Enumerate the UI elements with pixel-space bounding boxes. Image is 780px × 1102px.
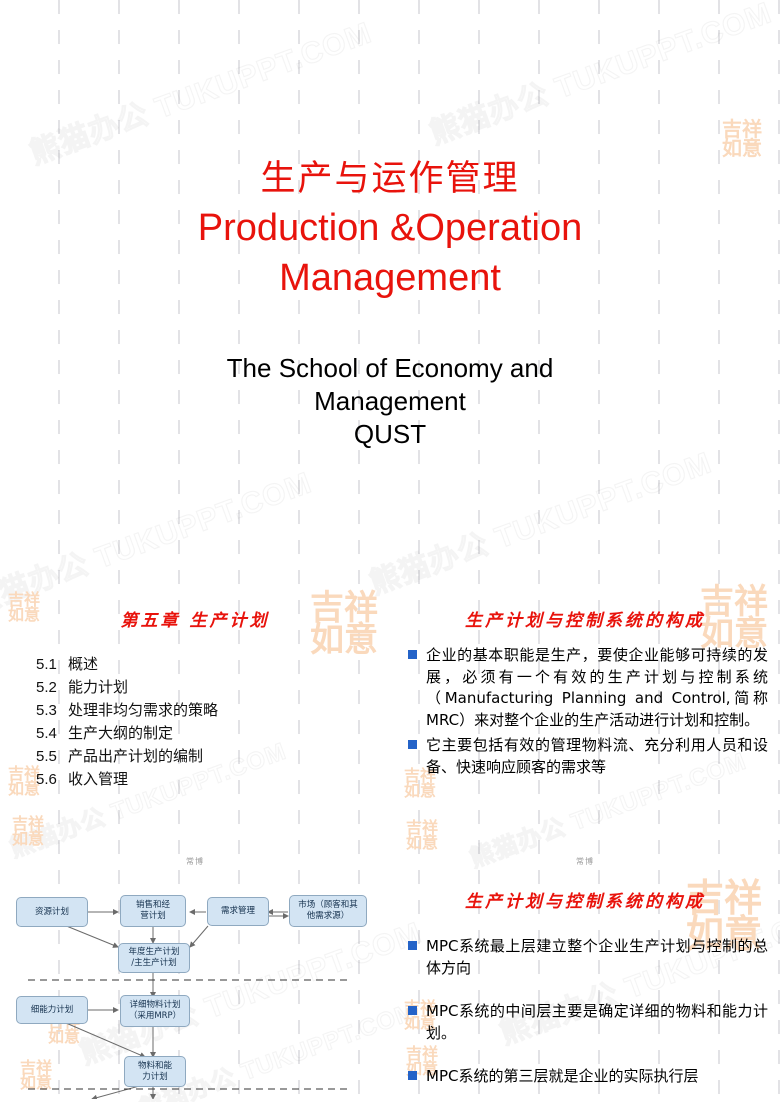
toc-number: 5.4: [36, 723, 68, 745]
list-item: 5.5产品出产计划的编制: [36, 745, 390, 768]
list-item: 5.4生产大纲的制定: [36, 722, 390, 745]
flow-box-matcap: 物料和能 力计划: [124, 1056, 186, 1087]
flowchart-diagram: 资源计划 销售和经 营计划 需求管理 市场（顾客和其 他需求源） 年度生产计划 …: [0, 867, 390, 1099]
list-item: 5.6收入管理: [36, 768, 390, 791]
list-item: 5.1概述: [36, 653, 390, 676]
toc-label: 产品出产计划的编制: [68, 747, 203, 765]
flow-box-mrp: 详细物料计划 （采用MRP）: [120, 995, 190, 1027]
toc-label: 生产大纲的制定: [68, 724, 173, 742]
slide-heading: 生产计划与控制系统的构成: [390, 887, 780, 912]
list-item: 它主要包括有效的管理物料流、充分利用人员和设备、快速响应顾客的需求等: [408, 735, 768, 778]
list-item: 5.3处理非均匀需求的策略: [36, 699, 390, 722]
toc-number: 5.5: [36, 746, 68, 768]
flow-box-market: 市场（顾客和其 他需求源）: [289, 895, 367, 927]
title-chinese: 生产与运作管理: [0, 155, 780, 203]
slide-mpc-flowchart: 常博: [0, 854, 390, 1102]
toc-label: 能力计划: [68, 678, 128, 696]
toc-number: 5.6: [36, 769, 68, 791]
tiny-header: 常博: [0, 854, 390, 867]
subtitle-line2: Management: [0, 385, 780, 418]
slide-table-of-contents: 第五章 生产计划 5.1概述 5.2能力计划 5.3处理非均匀需求的策略 5.4…: [0, 578, 390, 854]
list-item: 5.2能力计划: [36, 676, 390, 699]
list-item: 企业的基本职能是生产，要使企业能够可持续的发展，必须有一个有效的生产计划与控制系…: [408, 645, 768, 731]
subtitle-line1: The School of Economy and: [0, 352, 780, 385]
flow-box-resource: 资源计划: [16, 897, 88, 927]
tiny-header: 常博: [390, 854, 780, 867]
toc-number: 5.1: [36, 654, 68, 676]
title-english-line2: Management: [0, 253, 780, 303]
toc-number: 5.2: [36, 677, 68, 699]
subtitle-block: The School of Economy and Management QUS…: [0, 352, 780, 451]
title-block: 生产与运作管理 Production &Operation Management: [0, 155, 780, 303]
toc-number: 5.3: [36, 700, 68, 722]
bullet-list: MPC系统最上层建立整个企业生产计划与控制的总体方向 MPC系统的中间层主要是确…: [390, 936, 780, 1088]
bullet-list: 企业的基本职能是生产，要使企业能够可持续的发展，必须有一个有效的生产计划与控制系…: [390, 645, 780, 778]
list-item: MPC系统最上层建立整个企业生产计划与控制的总体方向: [408, 936, 768, 979]
toc-label: 收入管理: [68, 770, 128, 788]
toc-label: 处理非均匀需求的策略: [68, 701, 218, 719]
slide-mpc-composition-1: 生产计划与控制系统的构成 企业的基本职能是生产，要使企业能够可持续的发展，必须有…: [390, 578, 780, 854]
slide-heading: 第五章 生产计划: [0, 606, 390, 631]
flow-box-demand: 需求管理: [207, 897, 269, 926]
title-english-line1: Production &Operation: [0, 203, 780, 253]
list-item: MPC系统的第三层就是企业的实际执行层: [408, 1066, 768, 1088]
flow-box-capacity: 细能力计划: [16, 996, 88, 1024]
flow-box-annual: 年度生产计划 /主生产计划: [118, 943, 190, 973]
subtitle-line3: QUST: [0, 418, 780, 451]
flow-box-sales: 销售和经 营计划: [120, 895, 186, 927]
toc-list: 5.1概述 5.2能力计划 5.3处理非均匀需求的策略 5.4生产大纲的制定 5…: [36, 653, 390, 791]
slide-heading: 生产计划与控制系统的构成: [390, 606, 780, 631]
list-item: MPC系统的中间层主要是确定详细的物料和能力计划。: [408, 1001, 768, 1044]
slide-title: 生产与运作管理 Production &Operation Management…: [0, 0, 780, 540]
slide-mpc-composition-2: 常博 生产计划与控制系统的构成 MPC系统最上层建立整个企业生产计划与控制的总体…: [390, 854, 780, 1102]
toc-label: 概述: [68, 655, 98, 673]
